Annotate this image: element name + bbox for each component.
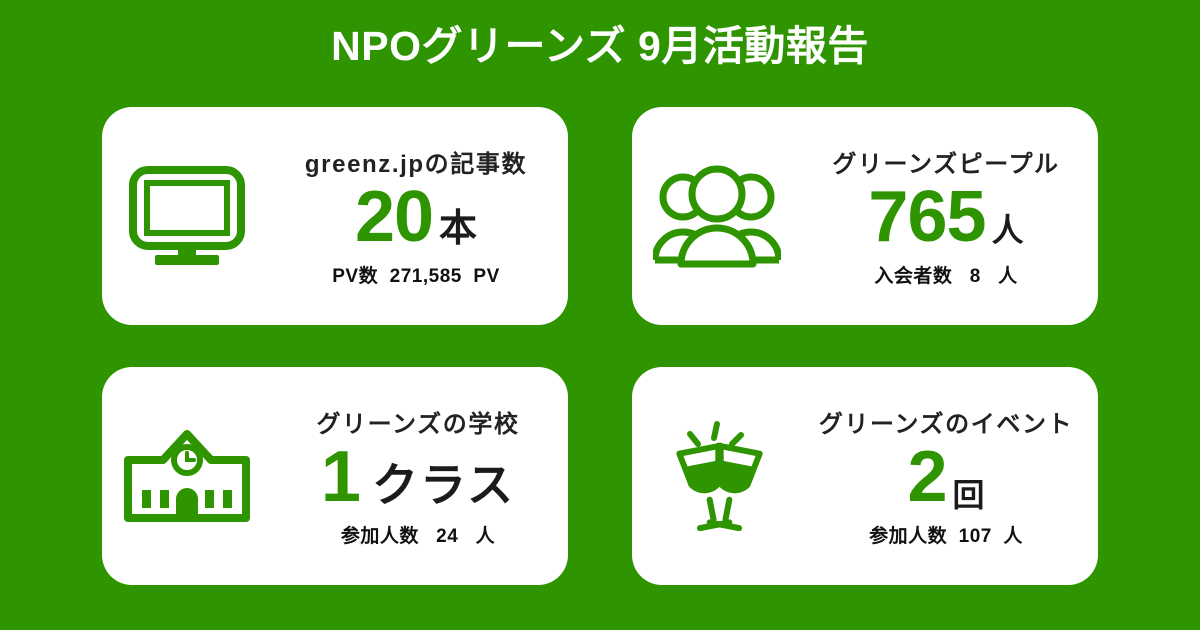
stat-subtext: PV数 271,585 PV — [332, 261, 500, 288]
stat-subtext: 入会者数 8 人 — [874, 261, 1017, 288]
page-title: NPOグリーンズ 9月活動報告 — [0, 22, 1200, 71]
stat-number: 2 — [907, 443, 946, 511]
stat-card-events[interactable]: グリーンズのイベント 2 回 参加人数 107 人 — [632, 367, 1098, 585]
stat-number: 765 — [868, 183, 985, 251]
stat-unit: 本 — [439, 210, 477, 248]
cheers-glasses-icon — [632, 367, 802, 585]
stat-number: 20 — [355, 183, 433, 251]
stat-main: 1 クラス — [321, 443, 515, 511]
stat-body: グリーンズのイベント 2 回 参加人数 107 人 — [802, 404, 1098, 548]
stat-unit: 人 — [992, 214, 1024, 246]
monitor-icon — [102, 107, 272, 325]
stat-unit: 回 — [953, 479, 985, 511]
stat-card-school[interactable]: グリーンズの学校 1 クラス 参加人数 24 人 — [102, 367, 568, 585]
stat-number: 1 — [321, 443, 360, 511]
school-building-icon — [102, 367, 272, 585]
stat-unit: クラス — [372, 462, 515, 508]
stat-subtext: 参加人数 107 人 — [869, 521, 1023, 548]
stat-body: greenz.jpの記事数 20 本 PV数 271,585 PV — [272, 144, 568, 288]
stat-main: 20 本 — [355, 183, 477, 251]
stat-heading: グリーンズのイベント — [819, 404, 1073, 439]
infographic-poster: NPOグリーンズ 9月活動報告 greenz.jpの記事数 20 本 PV数 2… — [0, 0, 1200, 630]
stat-body: グリーンズの学校 1 クラス 参加人数 24 人 — [272, 404, 568, 548]
stat-card-articles[interactable]: greenz.jpの記事数 20 本 PV数 271,585 PV — [102, 107, 568, 325]
stats-card-grid: greenz.jpの記事数 20 本 PV数 271,585 PV — [102, 107, 1098, 585]
stat-heading: greenz.jpの記事数 — [305, 144, 527, 179]
stat-card-people[interactable]: グリーンズピープル 765 人 入会者数 8 人 — [632, 107, 1098, 325]
people-group-icon — [632, 107, 802, 325]
stat-heading: グリーンズピープル — [832, 144, 1059, 179]
stat-main: 765 人 — [868, 183, 1023, 251]
stat-body: グリーンズピープル 765 人 入会者数 8 人 — [802, 144, 1098, 288]
stat-heading: グリーンズの学校 — [316, 404, 519, 439]
stat-main: 2 回 — [907, 443, 984, 511]
stat-subtext: 参加人数 24 人 — [341, 521, 495, 548]
